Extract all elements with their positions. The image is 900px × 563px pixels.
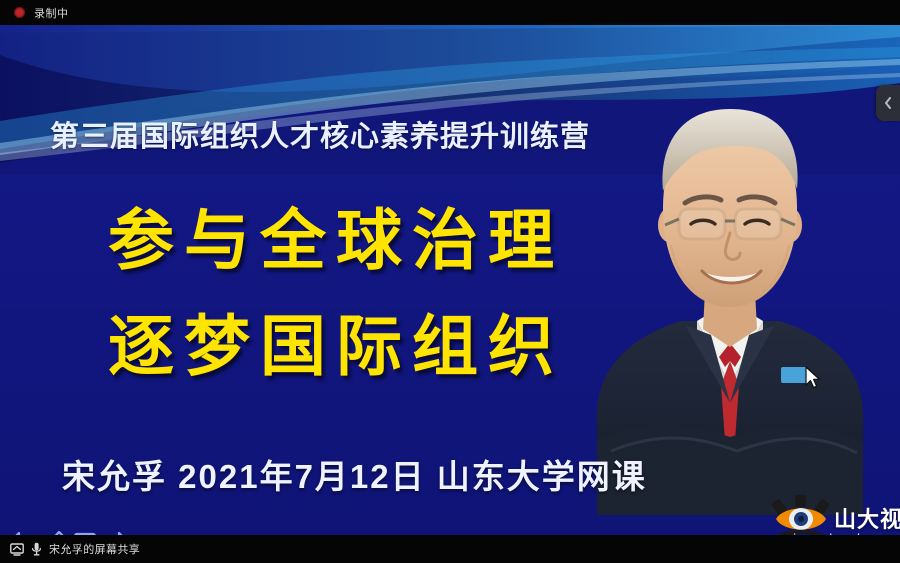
previous-slide-button[interactable]	[6, 527, 36, 535]
slide-headline-line-2: 逐梦国际组织	[108, 293, 628, 389]
share-status-bar: 宋允孚的屏幕共享	[0, 535, 900, 563]
slide-subtitle: 第三届国际组织人才核心素养提升训练营	[50, 113, 690, 155]
annotation-toolbar[interactable]	[6, 525, 132, 535]
screen-share-window: 录制中	[0, 0, 900, 563]
chevron-left-icon	[883, 96, 893, 110]
microphone-icon	[31, 542, 42, 556]
record-dot-icon	[14, 7, 25, 18]
shared-slide-area[interactable]: 第三届国际组织人才核心素养提升训练营 参与全球治理 逐梦国际组织 宋允孚 202…	[0, 25, 900, 535]
slide-headline-line-1: 参与全球治理	[108, 187, 628, 283]
notes-button[interactable]	[70, 527, 100, 535]
next-slide-button[interactable]	[102, 527, 132, 535]
share-status-label: 宋允孚的屏幕共享	[49, 541, 140, 557]
recording-bar: 录制中	[0, 0, 900, 25]
slide-byline: 宋允孚 2021年7月12日 山东大学网课	[62, 450, 647, 498]
recording-status-label: 录制中	[34, 5, 69, 21]
screen-share-icon	[10, 543, 24, 556]
annotate-pen-button[interactable]	[38, 527, 68, 535]
panel-collapse-tab[interactable]	[876, 85, 900, 121]
